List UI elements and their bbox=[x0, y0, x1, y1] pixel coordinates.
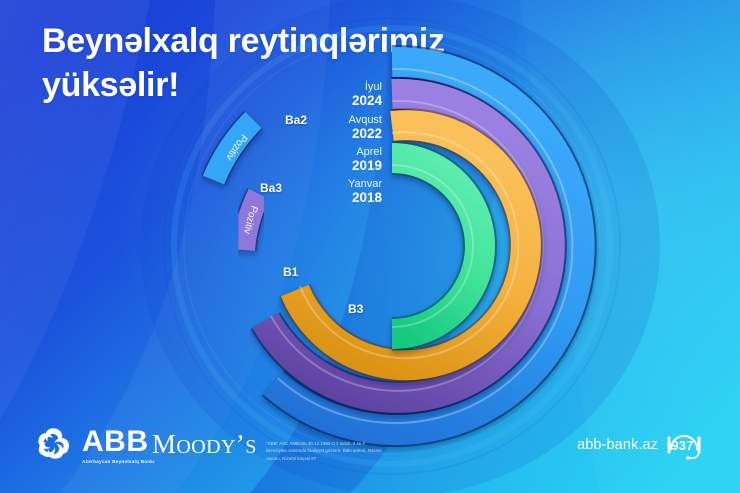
abb-name: ABB bbox=[82, 427, 155, 457]
date-label-yanvar-2018: Yanvar 2018 bbox=[292, 179, 382, 205]
moodys-m: M bbox=[152, 429, 176, 459]
headset-icon: 937 bbox=[662, 430, 706, 460]
moodys-logo: MOODY’S bbox=[152, 429, 257, 460]
rating-label-ba3: Ba3 bbox=[260, 181, 282, 195]
moodys-apostrophe: ’ bbox=[236, 429, 245, 459]
rating-label-b1: B1 bbox=[283, 265, 298, 279]
rating-label-ba2: Ba2 bbox=[285, 113, 307, 127]
moodys-oody: OODY bbox=[176, 436, 235, 458]
abb-wordmark: ABB Azərbaycan Beynəlxalq Bankı bbox=[82, 427, 155, 464]
poster-canvas: Beynəlxalq reytinqlərimiz yüksəlir! bbox=[0, 0, 740, 493]
date-label-iyul-2024: İyul 2024 bbox=[292, 82, 382, 108]
abb-tagline: Azərbaycan Beynəlxalq Bankı bbox=[82, 459, 155, 464]
moodys-s: S bbox=[245, 436, 257, 458]
arc-b3 bbox=[392, 158, 480, 334]
hotline-number: 937 bbox=[662, 430, 706, 460]
legal-disclaimer: "ABB" ASC AMB-nin 30.12.1992-ci il tarix… bbox=[266, 440, 384, 462]
rating-label-b3: B3 bbox=[348, 302, 363, 316]
website-url[interactable]: abb-bank.az bbox=[577, 437, 658, 453]
site-hotline-block: abb-bank.az 937 bbox=[577, 430, 706, 460]
footer: ABB Azərbaycan Beynəlxalq Bankı MOODY’S … bbox=[0, 407, 740, 493]
abb-logo: ABB Azərbaycan Beynəlxalq Bankı bbox=[33, 425, 155, 465]
date-label-aprel-2019: Aprel 2019 bbox=[292, 147, 382, 173]
abb-swirl-icon bbox=[33, 425, 73, 465]
